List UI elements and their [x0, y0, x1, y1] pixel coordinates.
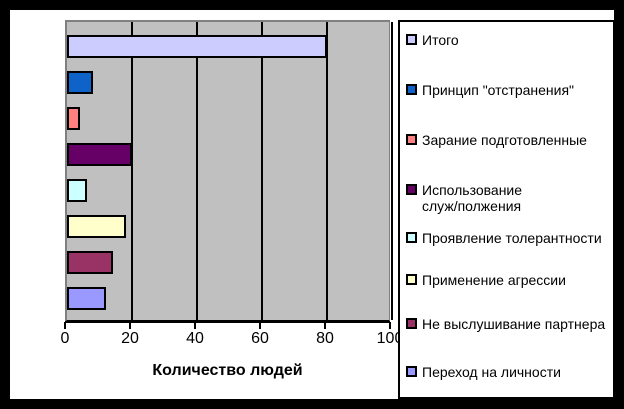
legend-swatch-icon: [406, 184, 417, 195]
gridline: [326, 22, 328, 320]
legend-label: Применение агрессии: [422, 272, 566, 288]
legend-label: Не выслушивание партнера: [422, 316, 605, 332]
legend-label: Итого: [422, 32, 459, 48]
x-axis-tick: [259, 322, 261, 329]
plot-area: [65, 20, 390, 322]
legend-entry[interactable]: Принцип "отстранения": [406, 82, 574, 98]
x-axis-tick-label: 40: [175, 330, 215, 348]
legend-swatch-icon: [406, 318, 417, 329]
legend-entry[interactable]: Переход на личности: [406, 364, 561, 380]
chart-legend: ИтогоПринцип "отстранения"Зарание подгот…: [398, 20, 615, 399]
bar: [67, 287, 106, 310]
bar: [67, 179, 87, 202]
legend-swatch-icon: [406, 84, 417, 95]
legend-entry[interactable]: Проявление толерантности: [406, 230, 602, 246]
x-axis-tick: [129, 322, 131, 329]
legend-swatch-icon: [406, 274, 417, 285]
x-axis-title: Количество людей: [65, 362, 390, 380]
gridline: [261, 22, 263, 320]
legend-swatch-icon: [406, 34, 417, 45]
bar: [67, 35, 327, 58]
legend-label: Использование служ/полжения: [422, 182, 522, 214]
legend-entry[interactable]: Не выслушивание партнера: [406, 316, 605, 332]
x-axis-tick: [64, 322, 66, 329]
bar: [67, 71, 93, 94]
x-axis-tick-label: 0: [45, 330, 85, 348]
chart-figure: 020406080100 Количество людей ИтогоПринц…: [0, 0, 624, 409]
legend-entry[interactable]: Итого: [406, 32, 459, 48]
x-axis-tick: [194, 322, 196, 329]
legend-label: Зарание подготовленные: [422, 132, 587, 148]
legend-entry[interactable]: Зарание подготовленные: [406, 132, 587, 148]
legend-swatch-icon: [406, 232, 417, 243]
x-axis-tick-label: 80: [305, 330, 345, 348]
bar: [67, 143, 132, 166]
x-axis-tick-label: 20: [110, 330, 150, 348]
legend-entry[interactable]: Применение агрессии: [406, 272, 566, 288]
legend-label: Проявление толерантности: [422, 230, 602, 246]
legend-swatch-icon: [406, 134, 417, 145]
x-axis-line: [65, 321, 390, 323]
bar: [67, 251, 113, 274]
legend-entry[interactable]: Использование служ/полжения: [406, 182, 522, 214]
bar: [67, 215, 126, 238]
x-axis-tick: [324, 322, 326, 329]
x-axis-tick-label: 60: [240, 330, 280, 348]
gridline: [391, 22, 393, 320]
x-axis-tick: [389, 322, 391, 329]
legend-label: Переход на личности: [422, 364, 561, 380]
legend-label: Принцип "отстранения": [422, 82, 574, 98]
chart-canvas: 020406080100 Количество людей ИтогоПринц…: [10, 10, 614, 399]
gridline: [131, 22, 133, 320]
legend-swatch-icon: [406, 366, 417, 377]
gridline: [196, 22, 198, 320]
bar: [67, 107, 80, 130]
